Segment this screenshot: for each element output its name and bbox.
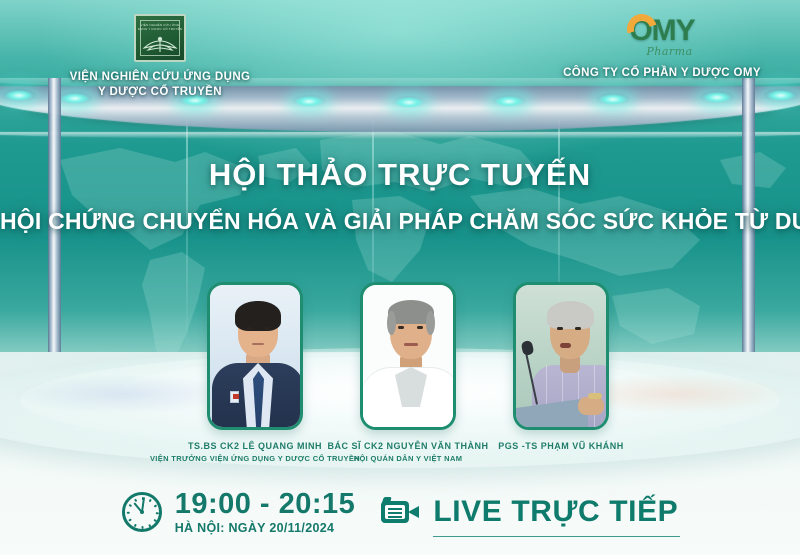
- speaker-list: TS.BS CK2 LÊ QUANG MINH VIỆN TRƯỞNG VIỆN…: [0, 282, 800, 472]
- emblem-caption: VIỆN NGHIÊN CỨU ỨNG DỤNG Y DƯỢC CỔ TRUYỀ…: [136, 23, 184, 31]
- event-date: HÀ NỘI: NGÀY 20/11/2024: [175, 522, 356, 535]
- live-label: LIVE TRỰC TIẾP: [433, 495, 678, 529]
- webinar-poster: VIỆN NGHIÊN CỨU ỨNG DỤNG Y DƯỢC CỔ TRUYỀ…: [0, 0, 800, 555]
- company-name: CÔNG TY CỔ PHẦN Y DƯỢC OMY: [540, 66, 784, 81]
- spotlight: [700, 91, 734, 104]
- institute-emblem-icon: VIỆN NGHIÊN CỨU ỨNG DỤNG Y DƯỢC CỔ TRUYỀ…: [134, 14, 186, 62]
- event-footer: 19:00 - 20:15 HÀ NỘI: NGÀY 20/11/2024 LI…: [0, 478, 800, 546]
- speaker-photo-le-quang-minh: [207, 282, 303, 430]
- event-time-block: 19:00 - 20:15 HÀ NỘI: NGÀY 20/11/2024: [122, 490, 356, 535]
- speaker-name: PGS -TS PHẠM VŨ KHÁNH: [451, 440, 671, 453]
- omy-pharma-logo-icon: OMY Pharma: [540, 14, 784, 60]
- speaker-photo-nguyen-van-thanh: [360, 282, 456, 430]
- omy-logo-subtext: Pharma: [646, 45, 692, 58]
- event-time-range: 19:00 - 20:15: [175, 490, 356, 519]
- speaker-card: PGS -TS PHẠM VŨ KHÁNH: [451, 282, 671, 453]
- spotlight: [596, 93, 630, 106]
- spotlight: [2, 89, 36, 102]
- spotlight: [492, 95, 526, 108]
- live-stream-badge[interactable]: LIVE TRỰC TIẾP: [381, 495, 678, 529]
- spotlight: [764, 89, 798, 102]
- spotlight: [292, 95, 326, 108]
- company-branding: OMY Pharma CÔNG TY CỔ PHẦN Y DƯỢC OMY: [540, 14, 784, 81]
- clock-icon: [122, 492, 162, 532]
- page-title: HỘI THẢO TRỰC TUYẾN: [0, 157, 800, 193]
- speaker-role: HỘI QUÁN DÂN Y VIỆT NAM: [298, 453, 518, 465]
- video-camera-icon: [381, 498, 421, 526]
- page-subtitle: HỘI CHỨNG CHUYỂN HÓA VÀ GIẢI PHÁP CHĂM S…: [0, 206, 800, 236]
- live-underline: [433, 536, 680, 538]
- speaker-photo-pham-vu-khanh: [513, 282, 609, 430]
- spotlight: [392, 96, 426, 109]
- institute-name-line2: Y DƯỢC CỔ TRUYỀN: [48, 85, 272, 100]
- institute-name-line1: VIỆN NGHIÊN CỨU ỨNG DỤNG: [48, 70, 272, 85]
- institute-branding: VIỆN NGHIÊN CỨU ỨNG DỤNG Y DƯỢC CỔ TRUYỀ…: [48, 14, 272, 100]
